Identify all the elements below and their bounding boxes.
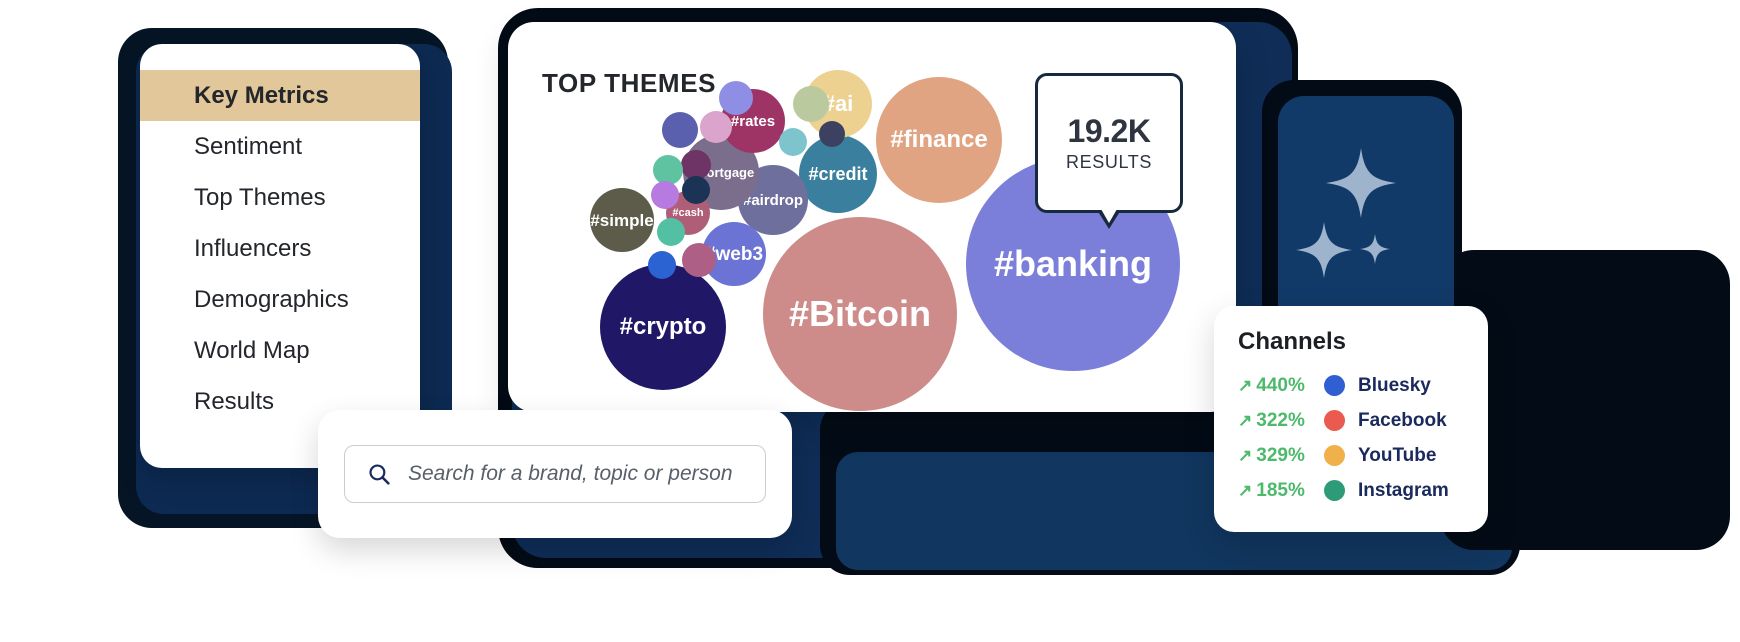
- sidebar-nav-list: Key MetricsSentimentTop ThemesInfluencer…: [140, 70, 420, 427]
- bubble-credit[interactable]: #credit: [799, 135, 877, 213]
- search-input[interactable]: Search for a brand, topic or person: [344, 445, 766, 503]
- sidebar-item-label: Sentiment: [194, 133, 302, 161]
- bubble-unlabeled[interactable]: [700, 111, 732, 143]
- bubble-label: #crypto: [620, 315, 707, 339]
- channels-list: ↗440%Bluesky↗322%Facebook↗329%YouTube↗18…: [1238, 368, 1488, 508]
- channel-row-youtube[interactable]: ↗329%YouTube: [1238, 438, 1488, 473]
- channel-row-instagram[interactable]: ↗185%Instagram: [1238, 473, 1488, 508]
- channels-card: Channels ↗440%Bluesky↗322%Facebook↗329%Y…: [1214, 306, 1488, 532]
- sidebar-item-label: Demographics: [194, 286, 349, 314]
- bubble-unlabeled[interactable]: [662, 112, 698, 148]
- search-placeholder-text: Search for a brand, topic or person: [408, 462, 733, 486]
- trend-up-icon: ↗: [1238, 446, 1252, 466]
- results-value: 19.2K: [1068, 113, 1151, 150]
- channel-row-bluesky[interactable]: ↗440%Bluesky: [1238, 368, 1488, 403]
- channel-name: Facebook: [1358, 410, 1447, 432]
- trend-up-icon: ↗: [1238, 481, 1252, 501]
- channel-color-dot: [1324, 375, 1345, 396]
- sparkle-icon-medium: [1296, 222, 1352, 278]
- sidebar-item-label: Key Metrics: [194, 82, 329, 110]
- channel-growth-value: 322%: [1256, 410, 1305, 432]
- channel-color-dot: [1324, 445, 1345, 466]
- sidebar-item-label: Top Themes: [194, 184, 326, 212]
- channel-growth-value: 185%: [1256, 480, 1305, 502]
- channel-growth: ↗322%: [1238, 410, 1324, 432]
- sidebar-card: Key MetricsSentimentTop ThemesInfluencer…: [140, 44, 420, 468]
- channels-title: Channels: [1238, 328, 1488, 356]
- channel-color-dot: [1324, 480, 1345, 501]
- bubble-unlabeled[interactable]: [651, 181, 679, 209]
- sidebar-item-label: World Map: [194, 337, 310, 365]
- bubble-finance[interactable]: #finance: [876, 77, 1002, 203]
- channel-color-dot: [1324, 410, 1345, 431]
- channel-growth-value: 440%: [1256, 375, 1305, 397]
- mockup-stage: Key MetricsSentimentTop ThemesInfluencer…: [0, 0, 1740, 642]
- channel-growth: ↗185%: [1238, 480, 1324, 502]
- bubble-unlabeled[interactable]: [779, 128, 807, 156]
- bubble-label: #airdrop: [743, 193, 803, 208]
- search-icon: [367, 462, 392, 487]
- channel-row-facebook[interactable]: ↗322%Facebook: [1238, 403, 1488, 438]
- sidebar-item-label: Influencers: [194, 235, 311, 263]
- sidebar-item-label: Results: [194, 388, 274, 416]
- bubble-label: #banking: [994, 246, 1152, 282]
- bubble-label: #finance: [890, 128, 987, 152]
- bubble-label: #simple: [590, 212, 653, 229]
- bubble-unlabeled[interactable]: [819, 121, 845, 147]
- bubble-label: #Bitcoin: [789, 296, 931, 332]
- channel-growth: ↗440%: [1238, 375, 1324, 397]
- bubble-crypto[interactable]: #crypto: [600, 264, 726, 390]
- trend-up-icon: ↗: [1238, 411, 1252, 431]
- bubble-label: #credit: [808, 165, 867, 183]
- bubble-unlabeled[interactable]: [793, 86, 829, 122]
- sidebar-item-key-metrics[interactable]: Key Metrics: [140, 70, 420, 121]
- sidebar-item-influencers[interactable]: Influencers: [140, 223, 420, 274]
- trend-up-icon: ↗: [1238, 376, 1252, 396]
- channel-name: YouTube: [1358, 445, 1436, 467]
- page-title: TOP THEMES: [542, 68, 716, 99]
- results-label: RESULTS: [1066, 152, 1152, 173]
- sparkle-icon-large: [1326, 148, 1396, 218]
- bubble-simple[interactable]: #simple: [590, 188, 654, 252]
- results-callout: 19.2K RESULTS: [1035, 73, 1183, 213]
- sidebar-item-demographics[interactable]: Demographics: [140, 274, 420, 325]
- bubble-unlabeled[interactable]: [682, 176, 710, 204]
- bubble-label: #cash: [672, 208, 703, 219]
- callout-pointer-fill: [1101, 209, 1117, 223]
- channel-name: Instagram: [1358, 480, 1449, 502]
- channel-growth: ↗329%: [1238, 445, 1324, 467]
- sidebar-item-top-themes[interactable]: Top Themes: [140, 172, 420, 223]
- bubble-unlabeled[interactable]: [648, 251, 676, 279]
- search-card: Search for a brand, topic or person: [318, 410, 792, 538]
- bubble-label: #rates: [731, 114, 775, 129]
- bubble-Bitcoin[interactable]: #Bitcoin: [763, 217, 957, 411]
- sidebar-item-sentiment[interactable]: Sentiment: [140, 121, 420, 172]
- channel-growth-value: 329%: [1256, 445, 1305, 467]
- bubble-unlabeled[interactable]: [719, 81, 753, 115]
- bubble-unlabeled[interactable]: [682, 243, 716, 277]
- bubble-unlabeled[interactable]: [657, 218, 685, 246]
- sidebar-item-world-map[interactable]: World Map: [140, 325, 420, 376]
- channel-name: Bluesky: [1358, 375, 1431, 397]
- sparkle-icon-small: [1360, 234, 1390, 264]
